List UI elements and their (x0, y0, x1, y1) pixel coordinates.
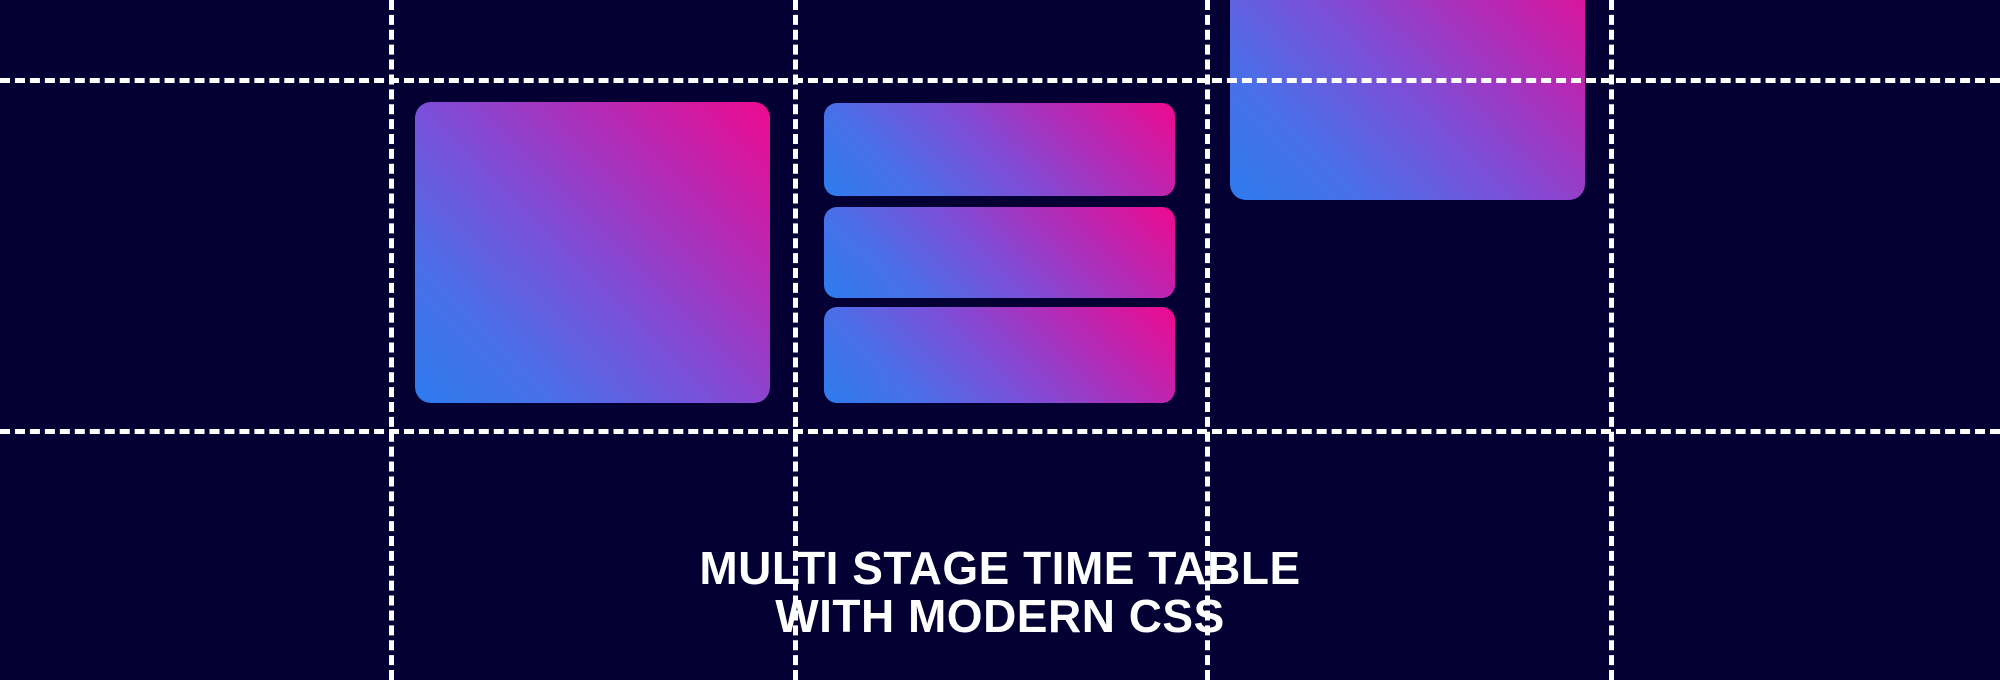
presentation-canvas: MULTI STAGE TIME TABLE WITH MODERN CSS (0, 0, 2000, 680)
event-card-partial[interactable] (1230, 0, 1585, 200)
grid-line-horizontal-1 (0, 78, 2000, 83)
event-card-stacked-2[interactable] (824, 207, 1175, 298)
grid-line-horizontal-2 (0, 429, 2000, 434)
event-card-stacked-1[interactable] (824, 103, 1175, 196)
title-block: MULTI STAGE TIME TABLE WITH MODERN CSS (0, 544, 2000, 640)
event-card-stacked-3[interactable] (824, 307, 1175, 403)
title-line-1: MULTI STAGE TIME TABLE (0, 544, 2000, 592)
title-line-2: WITH MODERN CSS (0, 592, 2000, 640)
event-card-large[interactable] (415, 102, 770, 403)
